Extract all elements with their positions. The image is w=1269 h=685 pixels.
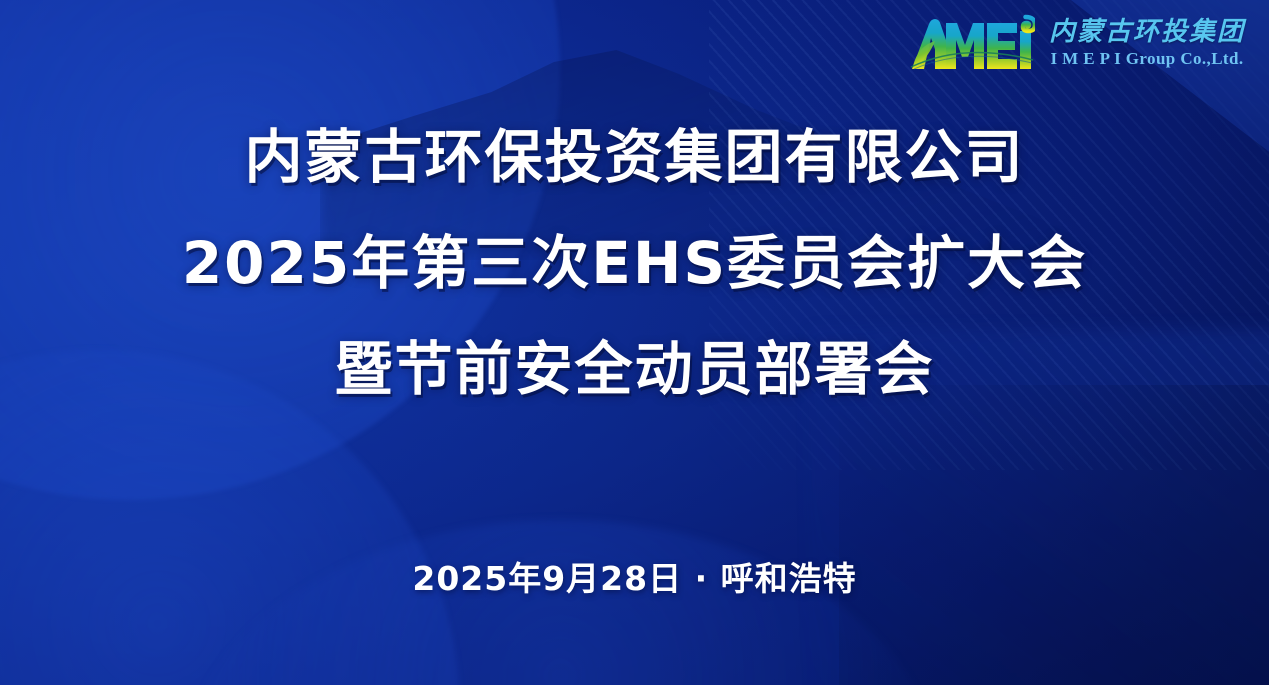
date-location-block: 2025年9月28日 · 呼和浩特 (0, 552, 1269, 600)
title-line-3: 暨节前安全动员部署会 (40, 340, 1229, 398)
mei-logo-mark-icon (909, 14, 1035, 72)
title-block: 内蒙古环保投资集团有限公司 2025年第三次EHS委员会扩大会 暨节前安全动员部… (0, 128, 1269, 398)
title-line-1: 内蒙古环保投资集团有限公司 (40, 128, 1229, 186)
background-shadow-bottom-right (839, 385, 1269, 685)
logo-company-name-cn: 内蒙古环投集团 (1049, 19, 1245, 45)
date-location-text: 2025年9月28日 · 呼和浩特 (0, 552, 1269, 600)
presentation-title-slide: 内蒙古环投集团 I M E P I Group Co.,Ltd. 内蒙古环保投资… (0, 0, 1269, 685)
title-line-2: 2025年第三次EHS委员会扩大会 (40, 234, 1229, 292)
company-logo: 内蒙古环投集团 I M E P I Group Co.,Ltd. (909, 14, 1245, 72)
logo-company-name-en: I M E P I Group Co.,Ltd. (1050, 50, 1243, 67)
logo-wordmark: 内蒙古环投集团 I M E P I Group Co.,Ltd. (1049, 19, 1245, 67)
